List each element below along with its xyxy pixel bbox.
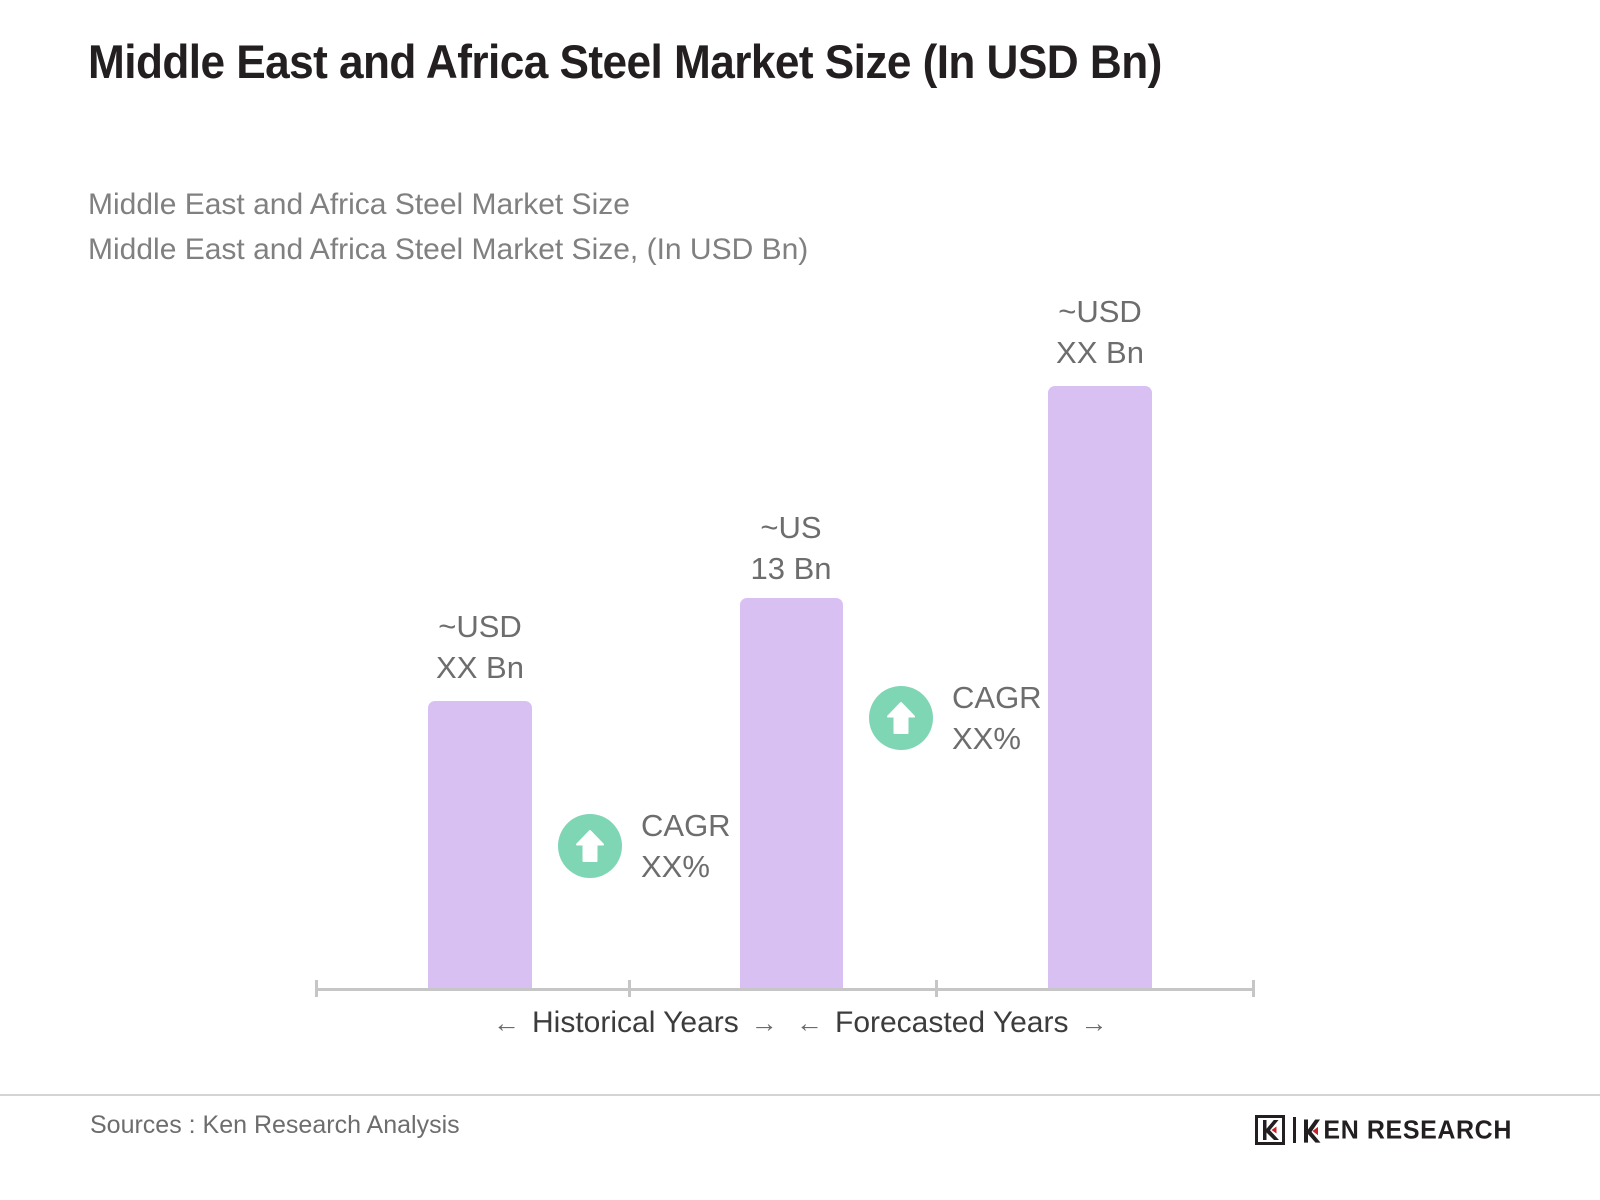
right-arrow-icon: →	[1080, 1002, 1107, 1044]
bar-chart: ~USD XX Bn ~US 13 Bn ~USD XX Bn CAGR XX%	[0, 0, 1600, 1080]
right-arrow-icon: →	[751, 1002, 778, 1044]
bar-base-year[interactable]	[740, 598, 843, 989]
bar-label-2-line-2: 13 Bn	[679, 548, 903, 589]
axis-caption-forecasted-label: Forecasted Years	[823, 1002, 1080, 1044]
bar-label-3-line-2: XX Bn	[988, 332, 1212, 373]
cagr-annotation-1-text: CAGR XX%	[641, 805, 731, 887]
bar-label-2-line-1: ~US	[679, 507, 903, 548]
bar-label-1: ~USD XX Bn	[368, 606, 592, 688]
cagr-annotation-1-value: XX%	[641, 846, 731, 887]
logo-divider	[1293, 1117, 1296, 1143]
bar-label-1-line-2: XX Bn	[368, 647, 592, 688]
axis-caption-historical-label: Historical Years	[520, 1002, 751, 1044]
logo-wordmark-ken	[1303, 1115, 1321, 1145]
bar-label-1-line-1: ~USD	[368, 606, 592, 647]
slide-canvas: Middle East and Africa Steel Market Size…	[0, 0, 1600, 1200]
logo-wordmark-text: EN RESEARCH	[1323, 1115, 1512, 1145]
up-arrow-icon	[558, 814, 622, 878]
x-axis-tick-2	[935, 980, 938, 997]
left-arrow-icon: ←	[493, 1002, 520, 1044]
cagr-annotation-2-title: CAGR	[952, 677, 1042, 718]
bar-historical-year[interactable]	[428, 701, 532, 989]
x-axis-left-cap	[315, 980, 318, 997]
axis-caption-historical: ← Historical Years →	[493, 1002, 778, 1044]
axis-caption-forecasted: ← Forecasted Years →	[796, 1002, 1107, 1044]
ken-research-logo: EN RESEARCH	[1255, 1112, 1512, 1148]
cagr-annotation-1-title: CAGR	[641, 805, 731, 846]
x-axis-tick-1	[628, 980, 631, 997]
cagr-annotation-2-text: CAGR XX%	[952, 677, 1042, 759]
ken-research-logo-mark	[1255, 1115, 1285, 1145]
cagr-annotation-1[interactable]: CAGR XX%	[558, 805, 731, 887]
bar-label-2: ~US 13 Bn	[679, 507, 903, 589]
ken-research-wordmark: EN RESEARCH	[1303, 1115, 1512, 1145]
cagr-annotation-2-value: XX%	[952, 718, 1042, 759]
bar-label-3: ~USD XX Bn	[988, 291, 1212, 373]
bar-forecasted-year[interactable]	[1048, 386, 1152, 989]
bar-label-3-line-1: ~USD	[988, 291, 1212, 332]
cagr-annotation-2[interactable]: CAGR XX%	[869, 677, 1042, 759]
source-note: Sources : Ken Research Analysis	[90, 1108, 460, 1142]
footer-divider	[0, 1094, 1600, 1096]
up-arrow-icon	[869, 686, 933, 750]
left-arrow-icon: ←	[796, 1002, 823, 1044]
x-axis-right-cap	[1252, 980, 1255, 997]
x-axis-line	[315, 988, 1255, 991]
